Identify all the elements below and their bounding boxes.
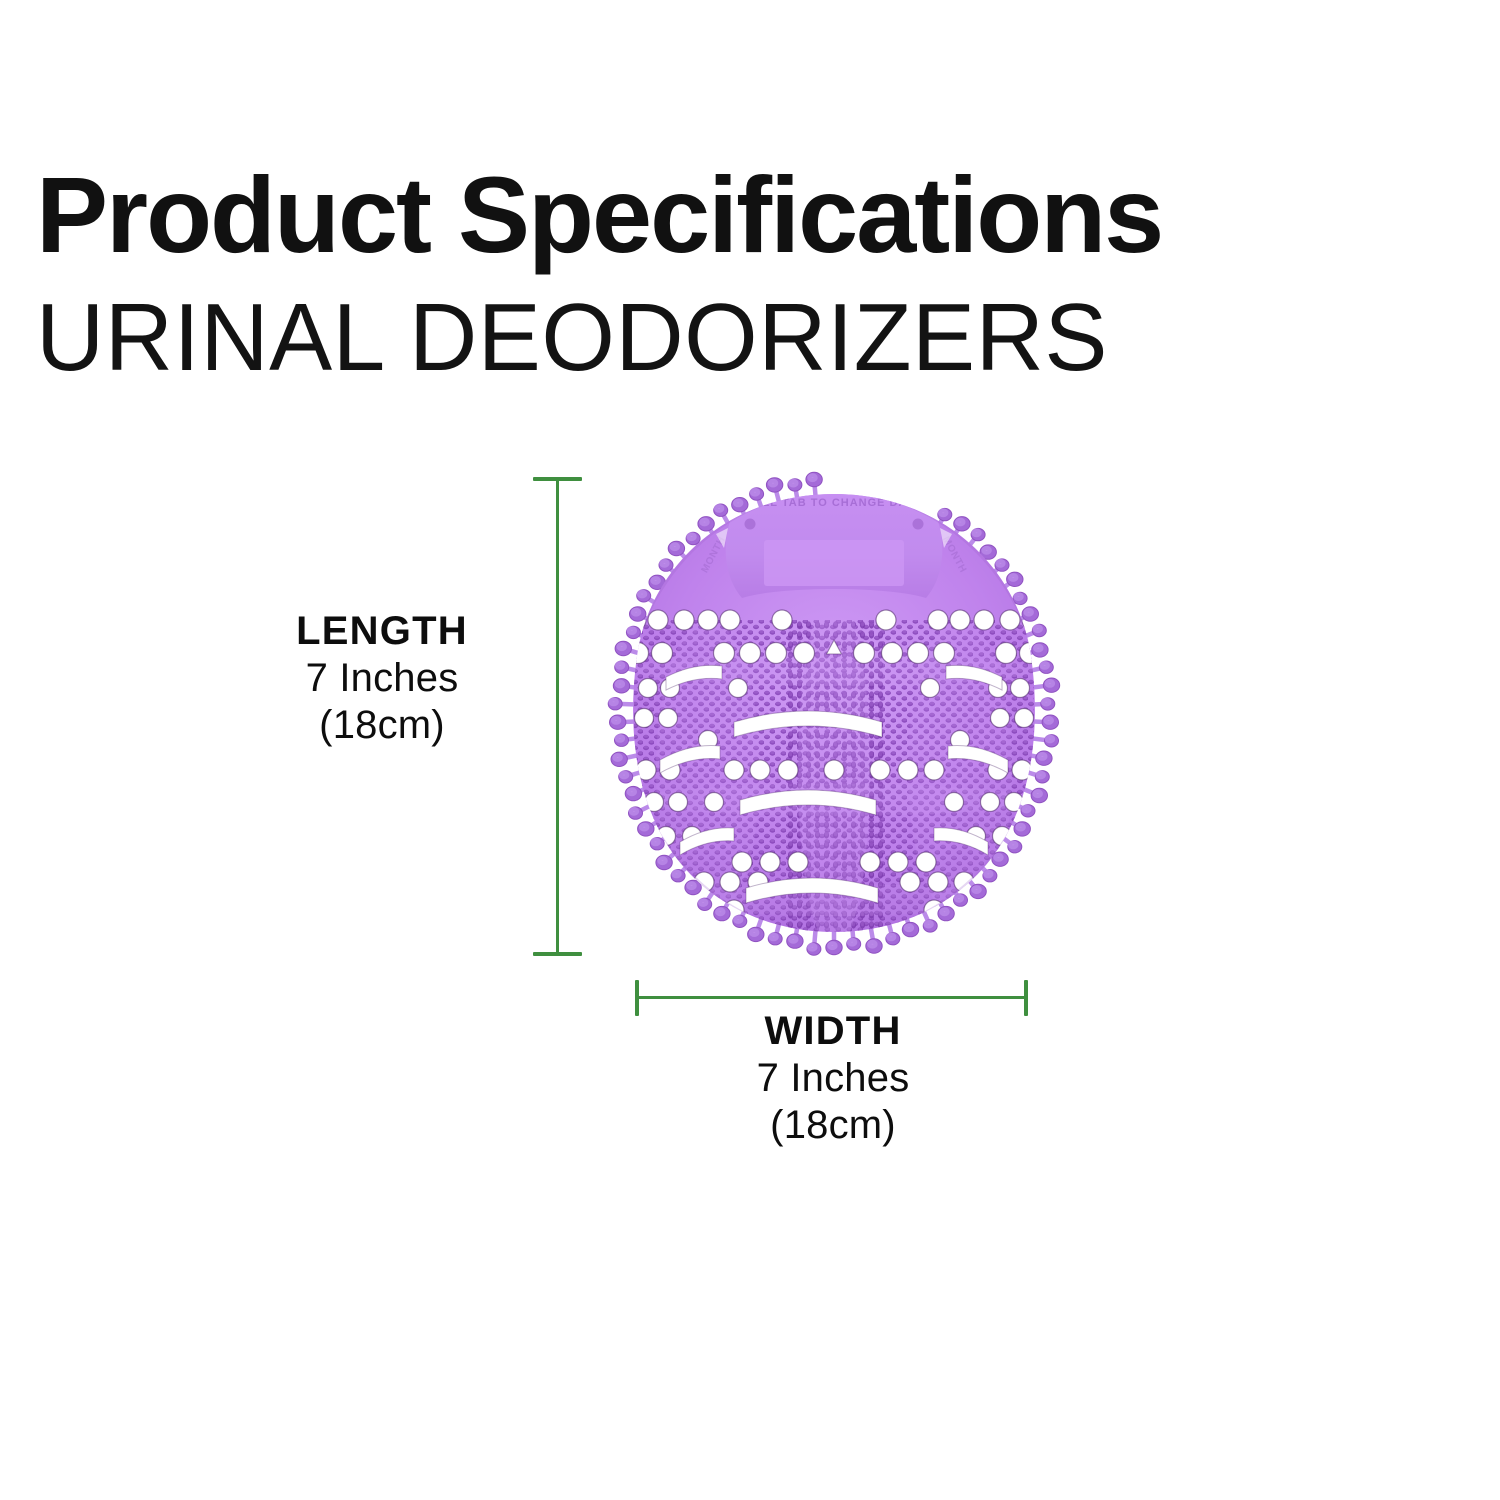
width-dimension-label: WIDTH 7 Inches (18cm) bbox=[680, 1008, 986, 1150]
page-subtitle: URINAL DEODORIZERS bbox=[36, 288, 1445, 389]
length-dimension-cap-bottom bbox=[533, 952, 582, 956]
product-embossed-top-text: PULL TAB TO CHANGE DATE bbox=[745, 497, 922, 509]
width-label-metric: (18cm) bbox=[680, 1102, 986, 1149]
product-body: PULL TAB TO CHANGE DATE MONTH MONTH bbox=[588, 470, 1080, 966]
length-label-value: 7 Inches bbox=[232, 655, 532, 702]
width-dimension-cap-left bbox=[635, 980, 639, 1016]
width-dimension-cap-right bbox=[1024, 980, 1028, 1016]
length-dimension-label: LENGTH 7 Inches (18cm) bbox=[232, 608, 532, 750]
product-specification-page: Product Specifications URINAL DEODORIZER… bbox=[0, 0, 1500, 1500]
length-label-name: LENGTH bbox=[232, 608, 532, 655]
width-dimension-line bbox=[636, 996, 1027, 999]
width-label-value: 7 Inches bbox=[680, 1055, 986, 1102]
length-dimension-cap-top bbox=[533, 477, 582, 481]
page-title: Product Specifications bbox=[36, 160, 1466, 270]
heading-block: Product Specifications URINAL DEODORIZER… bbox=[36, 160, 1466, 389]
length-dimension-line bbox=[556, 478, 559, 955]
length-label-metric: (18cm) bbox=[232, 702, 532, 749]
product-image-urinal-screen: PULL TAB TO CHANGE DATE MONTH MONTH bbox=[588, 470, 1080, 966]
width-label-name: WIDTH bbox=[680, 1008, 986, 1055]
